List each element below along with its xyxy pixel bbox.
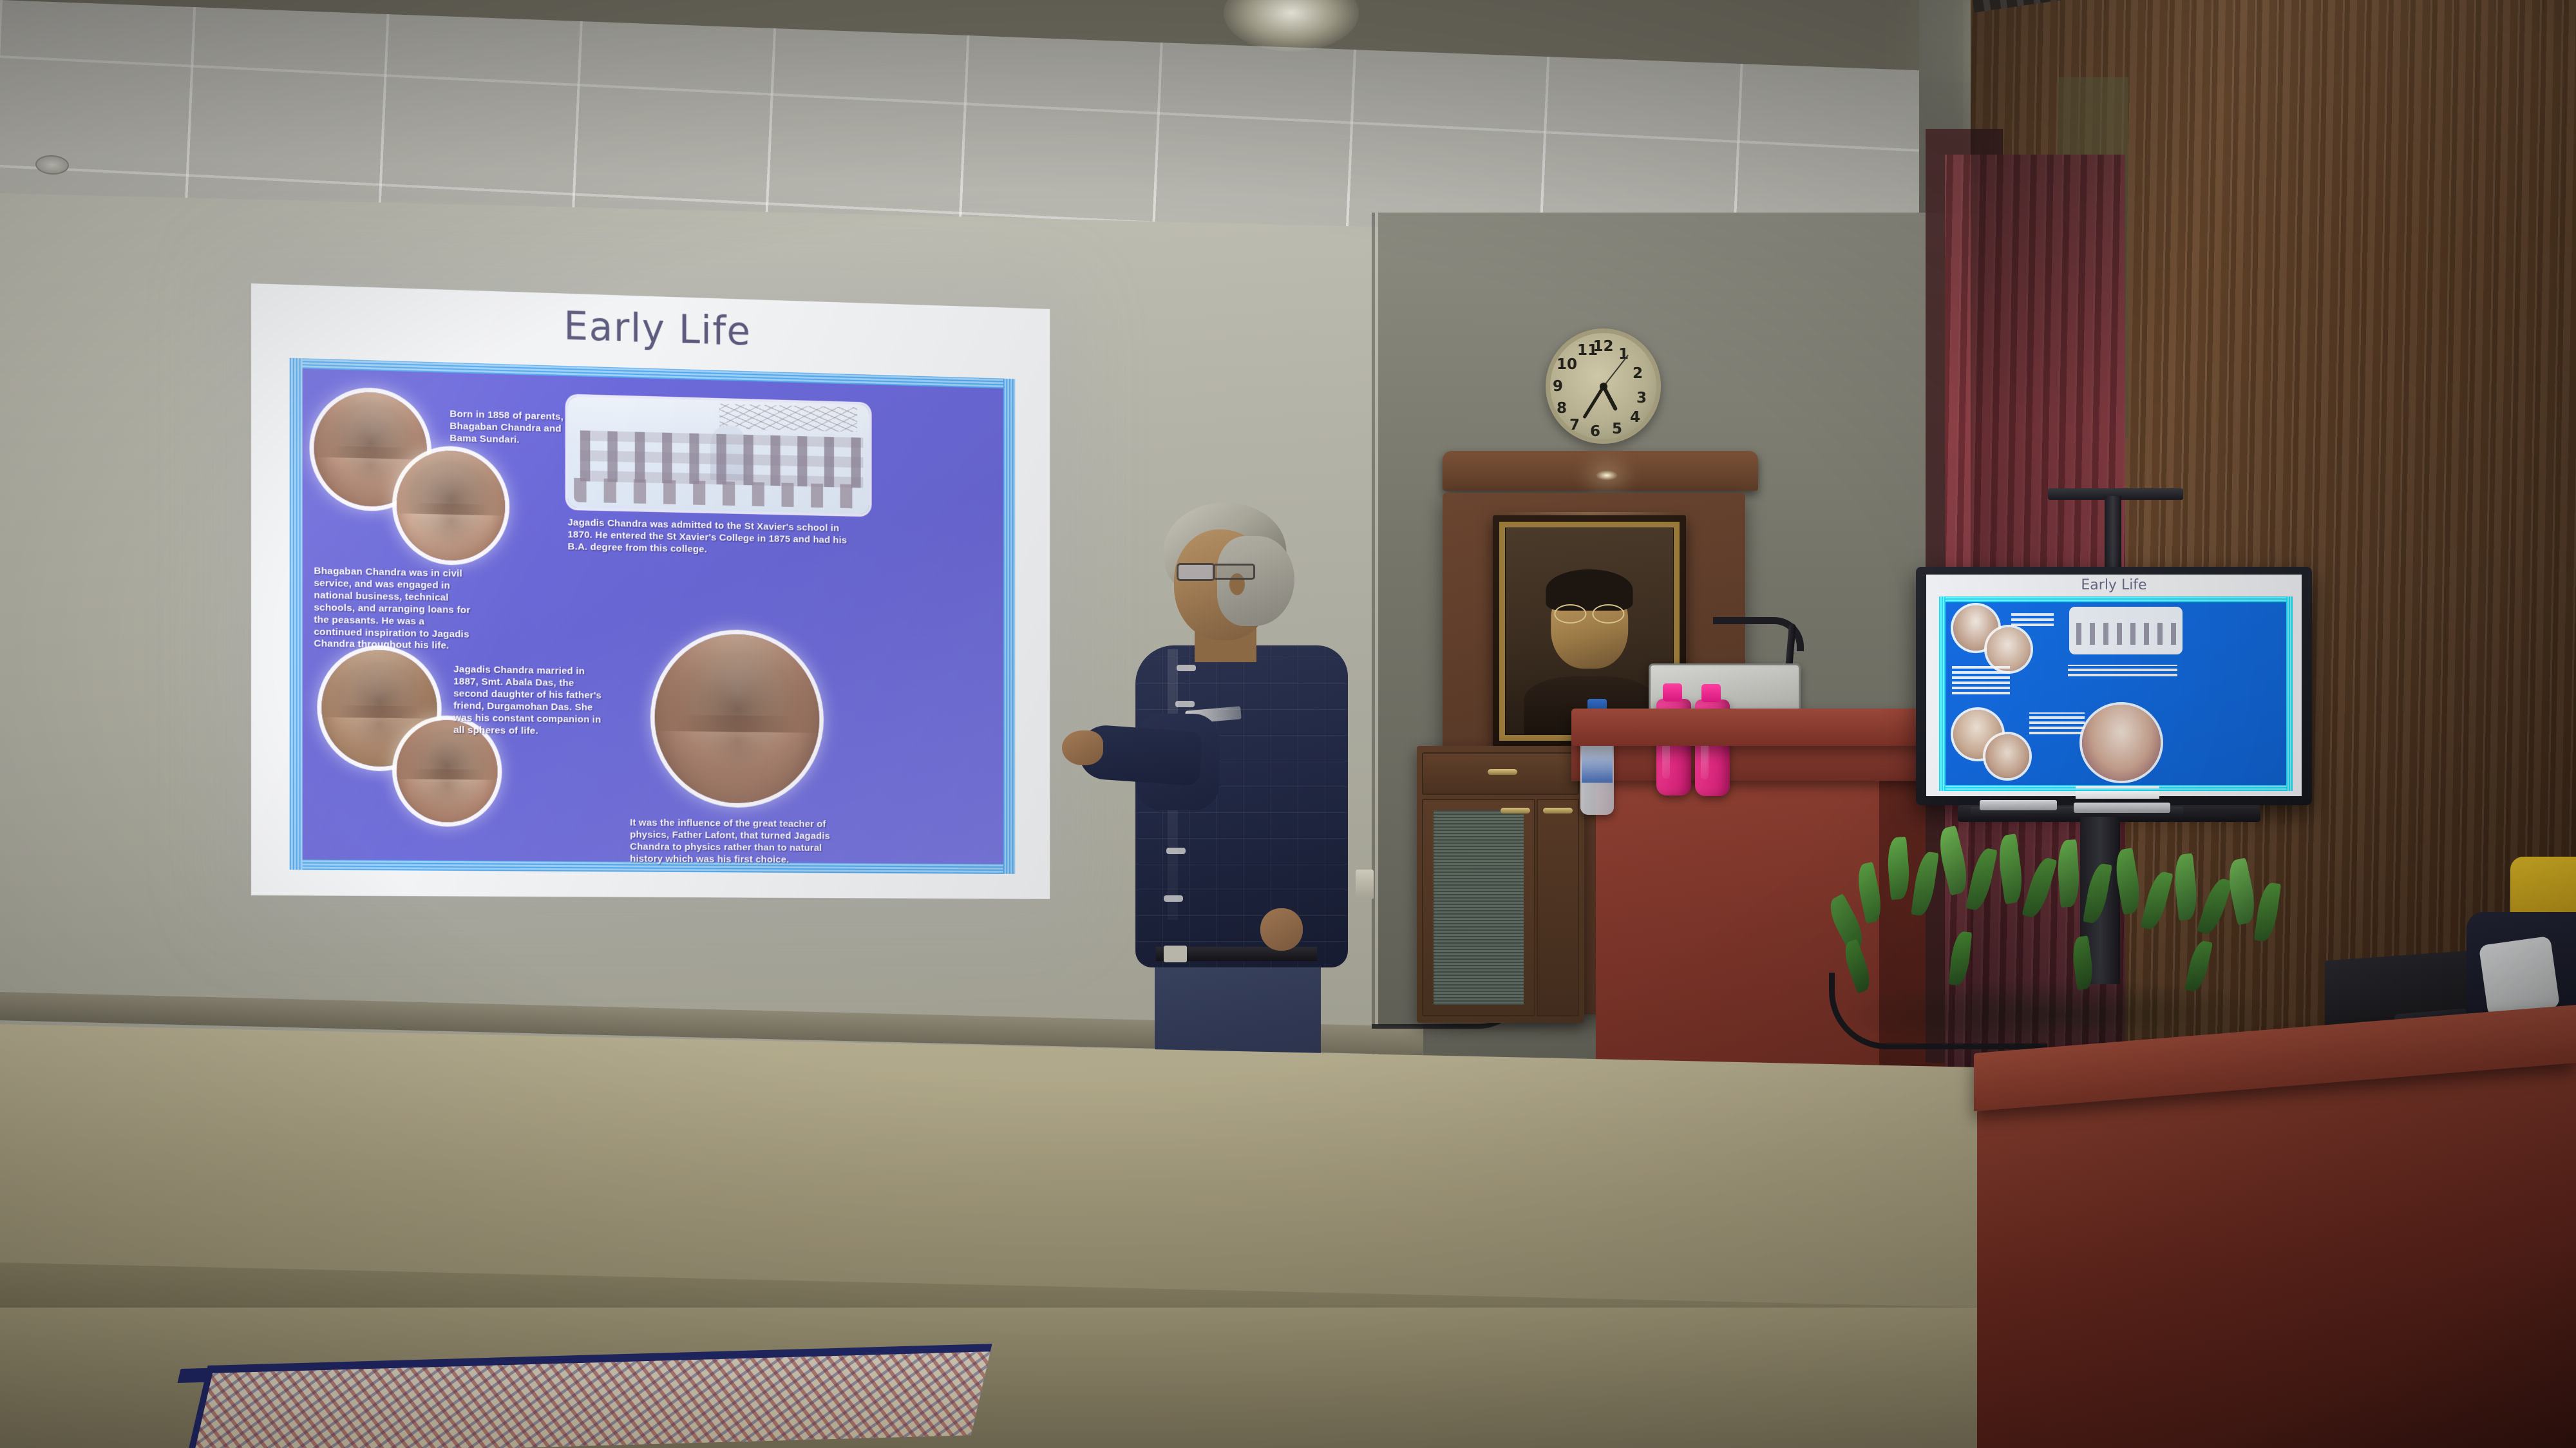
plant-leaf (1935, 825, 1972, 895)
clock-numeral: 5 (1612, 421, 1622, 437)
plant-leaf (1911, 850, 1939, 917)
portrait-subject-spectacles-icon (1554, 604, 1624, 621)
monitor-shelf (1971, 806, 2183, 818)
ceiling-light-glow-left (1224, 0, 1359, 52)
wall-clock: 12 1 2 3 4 5 6 7 8 9 10 11 (1546, 329, 1661, 444)
cabinet-door-handle-left[interactable] (1501, 808, 1530, 814)
clock-center-pin (1600, 383, 1607, 390)
plant-leaf (2197, 876, 2233, 937)
caption-father: Bhagaban Chandra was in civil service, a… (314, 566, 472, 653)
shelf-device-1 (1980, 800, 2057, 810)
wooden-cabinet[interactable] (1417, 746, 1584, 1023)
plant-leaf (2184, 939, 2213, 993)
caption-birth: Born in 1858 of parents, Bhagaban Chandr… (450, 408, 575, 448)
portrait-bama-sundari (397, 450, 505, 562)
jacket-button (1166, 848, 1186, 854)
monitor-portrait-4 (1985, 734, 2029, 778)
plant-leaf (1965, 846, 1998, 912)
presenter-resting-hand (1260, 908, 1303, 951)
clock-numeral: 10 (1557, 356, 1577, 373)
cabinet-door-handle-right[interactable] (1543, 808, 1573, 814)
clock-numeral: 2 (1633, 365, 1643, 382)
st-xaviers-college-illustration (568, 396, 869, 514)
monitor-building-illustration (2069, 607, 2183, 654)
plant-leaf (1996, 834, 2025, 904)
clock-numeral: 7 (1569, 417, 1580, 433)
caption-marriage: Jagadis Chandra married in 1887, Smt. Ab… (453, 664, 610, 738)
presenter-belt-buckle (1164, 946, 1187, 962)
monitor-portrait-5 (2082, 705, 2161, 781)
cabinet-glass-door[interactable] (1422, 799, 1535, 1016)
presenter-glasses-icon (1177, 562, 1253, 578)
shelf-device-2 (2074, 803, 2170, 813)
portrait-father-lafont (655, 633, 820, 803)
plant-leaf (1854, 862, 1885, 924)
caption-physics: It was the influence of the great teache… (630, 817, 845, 866)
seated-person-paper (2479, 936, 2560, 1017)
caption-school: Jagadis Chandra was admitted to the St X… (568, 517, 864, 559)
cabinet-right-door[interactable] (1537, 799, 1579, 1016)
cabinet-drawer-handle[interactable] (1488, 769, 1517, 775)
wall-monitor: Early Life (1916, 567, 2312, 805)
presenter-hair-back (1217, 536, 1294, 626)
monitor-slide-title: Early Life (1926, 577, 2302, 593)
canopy-accent-light-icon (1596, 470, 1618, 481)
foreground-desk-front (1977, 1043, 2576, 1448)
monitor-caption-5 (2076, 785, 2159, 799)
plant-leaf (1886, 837, 1911, 900)
plant-leaf (2056, 839, 2081, 908)
presenter-pointing-hand (1062, 730, 1103, 765)
monitor-caption-3 (2068, 665, 2177, 676)
monitor-caption-4 (2029, 712, 2085, 734)
lecture-hall-scene: Early Life Born in 1858 of parents, Bhag… (0, 0, 2576, 1448)
jacket-button (1175, 701, 1195, 707)
clock-numeral: 3 (1636, 390, 1647, 406)
monitor-top-pole (2105, 496, 2121, 573)
clock-numeral: 8 (1557, 400, 1567, 417)
jacket-button (1164, 895, 1183, 902)
plant-leaf (2070, 935, 2095, 990)
plant-leaf (2254, 881, 2282, 942)
clock-numeral: 4 (1630, 409, 1640, 426)
monitor-screen: Early Life (1926, 575, 2302, 796)
monitor-caption-1 (2011, 611, 2054, 626)
clock-numeral: 9 (1553, 378, 1563, 395)
plant-leaf (2140, 870, 2173, 932)
monitor-portrait-2 (1987, 627, 2031, 671)
plant-leaf (2022, 855, 2057, 920)
stage-cable-bundle (1829, 973, 2047, 1049)
projection-screen: Early Life Born in 1858 of parents, Bhag… (251, 283, 1050, 899)
monitor-caption-2 (1952, 666, 2010, 694)
podium-reading-ledge (1571, 709, 1958, 746)
jacket-button (1177, 665, 1196, 671)
plant-leaf (2172, 853, 2199, 921)
monitor-slide-body (1939, 596, 2293, 791)
ribbed-glass-panel (1434, 810, 1524, 1005)
tree-sketch (719, 404, 857, 432)
slide-body: Born in 1858 of parents, Bhagaban Chandr… (290, 358, 1016, 874)
plant-leaf (2112, 848, 2144, 915)
clock-numeral: 11 (1577, 342, 1598, 359)
clock-numeral: 6 (1590, 423, 1600, 440)
plant-leaf (2083, 862, 2112, 925)
